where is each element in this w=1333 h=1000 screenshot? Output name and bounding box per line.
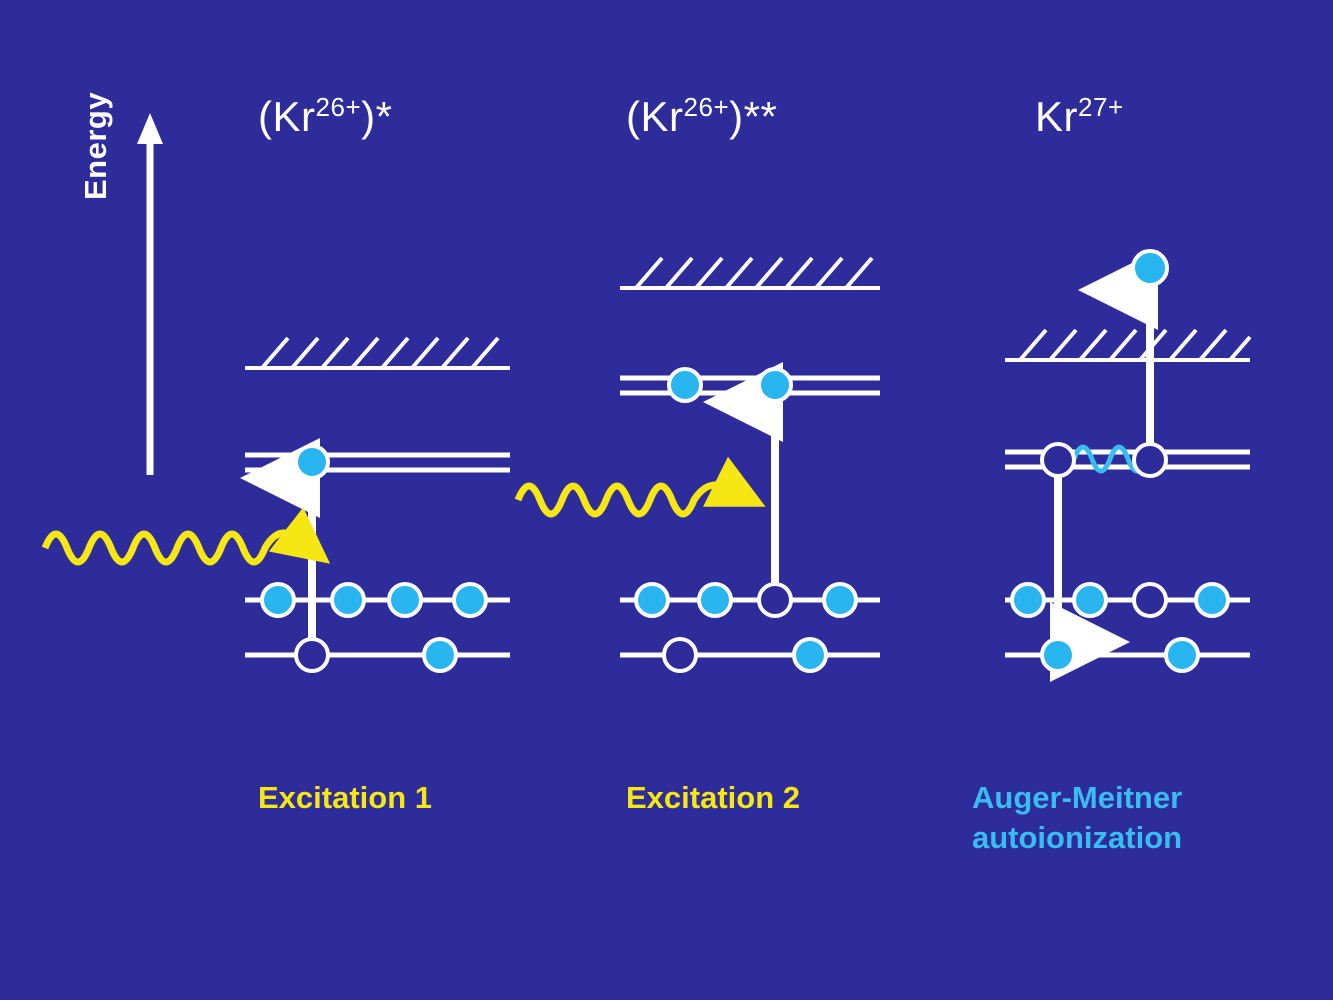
electron-filled <box>424 639 456 671</box>
level-diagram-auger <box>950 230 1310 700</box>
column-title-excitation-1: (Kr26+)* <box>258 92 393 141</box>
electron-filled <box>296 446 328 478</box>
column-title-suffix: )* <box>361 93 392 140</box>
electron-filled <box>1166 639 1198 671</box>
column-title-charge: 26+ <box>316 92 362 122</box>
column-title-text: (Kr <box>258 93 316 140</box>
electron-filled <box>636 584 668 616</box>
electron-filled <box>1196 584 1228 616</box>
caption-excitation-2: Excitation 2 <box>626 778 800 818</box>
photon-arrow-excitation-1 <box>45 533 297 562</box>
column-title-suffix: )** <box>729 93 777 140</box>
continuum-hatch-auger <box>1005 330 1250 360</box>
column-title-charge: 26+ <box>684 92 730 122</box>
electron-filled <box>389 584 421 616</box>
column-title-text: Kr <box>1035 93 1078 140</box>
excited-level-excitation-2 <box>620 378 880 393</box>
photon-arrow-excitation-2 <box>518 485 728 514</box>
caption-auger-meitner: Auger-Meitner autoionization <box>972 778 1182 857</box>
column-title-auger: Kr27+ <box>1035 92 1124 141</box>
electron-filled <box>699 584 731 616</box>
electron-empty <box>296 639 328 671</box>
electron-empty <box>1134 584 1166 616</box>
electron-filled <box>824 584 856 616</box>
electron-filled <box>262 584 294 616</box>
electron-filled <box>1042 639 1074 671</box>
electron-filled <box>1012 584 1044 616</box>
electron-empty <box>1042 444 1074 476</box>
level-diagram-excitation-2 <box>460 230 920 700</box>
diagram-canvas: Energy (Kr26+)* (Kr26+)** Kr27+ <box>0 0 1333 1000</box>
column-title-excitation-2: (Kr26+)** <box>626 92 777 141</box>
column-title-charge: 27+ <box>1078 92 1124 122</box>
energy-axis-label: Energy <box>78 20 114 200</box>
electron-filled <box>759 369 791 401</box>
electron-filled <box>669 369 701 401</box>
electron-filled <box>332 584 364 616</box>
electron-empty <box>1134 444 1166 476</box>
electron-ejected <box>1133 251 1167 285</box>
electron-filled <box>1074 584 1106 616</box>
electron-filled <box>794 639 826 671</box>
column-title-text: (Kr <box>626 93 684 140</box>
electron-empty <box>664 639 696 671</box>
electron-empty <box>759 584 791 616</box>
continuum-hatch-excitation-2 <box>620 258 880 288</box>
caption-excitation-1: Excitation 1 <box>258 778 432 818</box>
